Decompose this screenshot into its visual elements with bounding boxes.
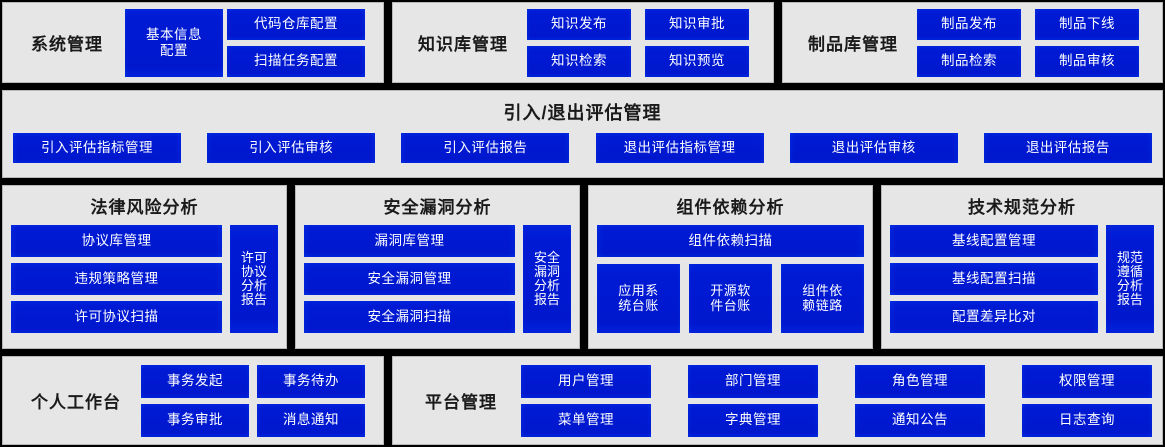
panel-title-system-management: 系统管理 (9, 30, 125, 55)
button-open-source-software-ledger[interactable]: 开源软 件台账 (689, 264, 772, 333)
panel-title-security-vulnerability-analysis: 安全漏洞分析 (304, 193, 571, 218)
dashboard-root: 系统管理 基本信息 配置 代码仓库配置 扫描任务配置 知识库管理 知识发布 知识… (0, 0, 1165, 447)
button-config-difference-comparison[interactable]: 配置差异比对 (890, 301, 1098, 333)
panel-intro-exit-evaluation: 引入/退出评估管理 引入评估指标管理 引入评估审核 引入评估报告 退出评估指标管… (2, 90, 1163, 178)
button-product-search[interactable]: 制品检索 (917, 46, 1021, 77)
panel-title-component-dependency-analysis: 组件依赖分析 (597, 193, 864, 218)
button-menu-management[interactable]: 菜单管理 (521, 404, 651, 437)
button-scan-task-config[interactable]: 扫描任务配置 (227, 46, 365, 77)
panel-system-management: 系统管理 基本信息 配置 代码仓库配置 扫描任务配置 (2, 2, 384, 83)
button-exit-eval-indicator-management[interactable]: 退出评估指标管理 (596, 133, 764, 163)
button-dictionary-management[interactable]: 字典管理 (688, 404, 818, 437)
button-knowledge-search[interactable]: 知识检索 (527, 46, 631, 77)
button-knowledge-approve[interactable]: 知识审批 (645, 9, 749, 40)
panel-title-intro-exit-evaluation: 引入/退出评估管理 (9, 99, 1156, 125)
button-baseline-config-scan[interactable]: 基线配置扫描 (890, 263, 1098, 295)
button-role-management[interactable]: 角色管理 (855, 365, 985, 398)
panel-title-personal-workbench: 个人工作台 (11, 388, 141, 413)
button-transaction-initiate[interactable]: 事务发起 (141, 365, 249, 398)
panel-title-platform-management: 平台管理 (401, 388, 521, 413)
button-intro-eval-report[interactable]: 引入评估报告 (401, 133, 569, 163)
panel-security-vulnerability-analysis: 安全漏洞分析 漏洞库管理 安全漏洞管理 安全漏洞扫描 安全 漏洞 分析 报告 (295, 185, 580, 349)
button-user-management[interactable]: 用户管理 (521, 365, 651, 398)
panel-legal-risk-analysis: 法律风险分析 协议库管理 违规策略管理 许可协议扫描 许可 协议 分析 报告 (2, 185, 287, 349)
system-management-buttons: 基本信息 配置 代码仓库配置 扫描任务配置 (125, 9, 377, 77)
platform-management-buttons: 用户管理 部门管理 角色管理 权限管理 菜单管理 字典管理 通知公告 日志查询 (521, 365, 1154, 437)
button-application-system-ledger[interactable]: 应用系 统台账 (597, 264, 680, 333)
panel-knowledge-base-management: 知识库管理 知识发布 知识审批 知识检索 知识预览 (392, 2, 774, 83)
button-intro-eval-audit[interactable]: 引入评估审核 (207, 133, 375, 163)
panel-product-repo-management: 制品库管理 制品发布 制品下线 制品检索 制品审核 (782, 2, 1163, 83)
button-agreement-repo-management[interactable]: 协议库管理 (11, 225, 222, 257)
button-security-vulnerability-scan[interactable]: 安全漏洞扫描 (304, 301, 515, 333)
button-department-management[interactable]: 部门管理 (688, 365, 818, 398)
button-exit-eval-audit[interactable]: 退出评估审核 (790, 133, 958, 163)
button-security-vulnerability-analysis-report[interactable]: 安全 漏洞 分析 报告 (523, 225, 571, 333)
button-baseline-config-management[interactable]: 基线配置管理 (890, 225, 1098, 257)
button-transaction-approve[interactable]: 事务审批 (141, 404, 249, 437)
button-violation-policy-management[interactable]: 违规策略管理 (11, 263, 222, 295)
intro-exit-evaluation-buttons: 引入评估指标管理 引入评估审核 引入评估报告 退出评估指标管理 退出评估审核 退… (9, 133, 1156, 163)
product-repo-buttons: 制品发布 制品下线 制品检索 制品审核 (917, 9, 1156, 77)
personal-workbench-buttons: 事务发起 事务待办 事务审批 消息通知 (141, 365, 375, 437)
button-basic-info-config[interactable]: 基本信息 配置 (125, 9, 223, 77)
panel-technical-specification-analysis: 技术规范分析 基线配置管理 基线配置扫描 配置差异比对 规范 遵循 分析 报告 (881, 185, 1163, 349)
button-specification-compliance-analysis-report[interactable]: 规范 遵循 分析 报告 (1106, 225, 1154, 333)
button-product-offline[interactable]: 制品下线 (1035, 9, 1139, 40)
button-license-agreement-analysis-report[interactable]: 许可 协议 分析 报告 (230, 225, 278, 333)
button-license-agreement-scan[interactable]: 许可协议扫描 (11, 301, 222, 333)
panel-title-technical-specification-analysis: 技术规范分析 (890, 193, 1154, 218)
button-log-query[interactable]: 日志查询 (1022, 404, 1152, 437)
panel-title-legal-risk-analysis: 法律风险分析 (11, 193, 278, 218)
button-security-vulnerability-management[interactable]: 安全漏洞管理 (304, 263, 515, 295)
button-notice-announcement[interactable]: 通知公告 (855, 404, 985, 437)
button-exit-eval-report[interactable]: 退出评估报告 (984, 133, 1152, 163)
panel-platform-management: 平台管理 用户管理 部门管理 角色管理 权限管理 菜单管理 字典管理 通知公告 … (392, 356, 1163, 445)
button-code-repo-config[interactable]: 代码仓库配置 (227, 9, 365, 40)
panel-title-knowledge-base-management: 知识库管理 (399, 30, 527, 55)
button-knowledge-preview[interactable]: 知识预览 (645, 46, 749, 77)
button-product-audit[interactable]: 制品审核 (1035, 46, 1139, 77)
panel-component-dependency-analysis: 组件依赖分析 组件依赖扫描 应用系 统台账 开源软 件台账 组件依 赖链路 (588, 185, 873, 349)
button-knowledge-publish[interactable]: 知识发布 (527, 9, 631, 40)
button-transaction-todo[interactable]: 事务待办 (257, 365, 365, 398)
button-permission-management[interactable]: 权限管理 (1022, 365, 1152, 398)
panel-title-product-repo-management: 制品库管理 (789, 30, 917, 55)
button-component-dependency-chain[interactable]: 组件依 赖链路 (781, 264, 864, 333)
panel-personal-workbench: 个人工作台 事务发起 事务待办 事务审批 消息通知 (2, 356, 384, 445)
button-vulnerability-repo-management[interactable]: 漏洞库管理 (304, 225, 515, 257)
button-intro-eval-indicator-management[interactable]: 引入评估指标管理 (13, 133, 181, 163)
button-product-publish[interactable]: 制品发布 (917, 9, 1021, 40)
button-component-dependency-scan[interactable]: 组件依赖扫描 (597, 225, 864, 257)
button-message-notification[interactable]: 消息通知 (257, 404, 365, 437)
knowledge-base-buttons: 知识发布 知识审批 知识检索 知识预览 (527, 9, 767, 77)
